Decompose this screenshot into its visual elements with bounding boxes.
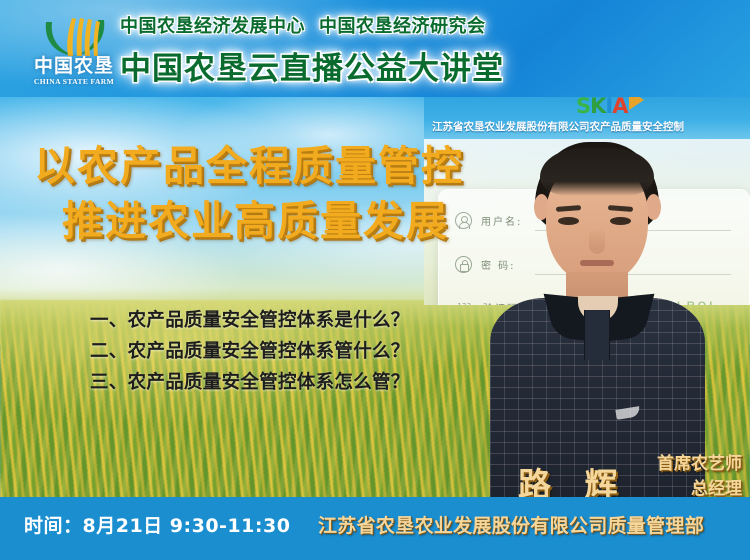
list-item: 二、农产品质量安全管控体系管什么？ <box>90 336 410 367</box>
page-title: 以农产品全程质量管控 推进农业高质量发展 <box>34 139 464 249</box>
header-text-block: 中国农垦经济发展中心中国农垦经济研究会 中国农垦云直播公益大讲堂 <box>120 12 504 88</box>
top-header-band: 中国农垦 CHINA STATE FARM 中国农垦经济发展中心中国农垦经济研究… <box>0 0 750 97</box>
logo-chinese-text: 中国农垦 <box>26 56 122 76</box>
header-org-2: 中国农垦经济研究会 <box>319 16 486 37</box>
footer-bar: 时间：8月21日 9:30-11:30 江苏省农垦农业发展股份有限公司质量管理部 <box>0 497 750 560</box>
speaker-roles: 首席农艺师 总经理 <box>620 452 742 502</box>
portrait-ear-right <box>646 194 661 220</box>
digits-123-icon: 123 <box>455 301 474 305</box>
portrait-placket <box>584 310 610 360</box>
poster-canvas: 用户名: 密 码: 123 验证码: LRQI SKIA <box>0 0 750 560</box>
logo-english-text: CHINA STATE FARM <box>26 77 122 86</box>
portrait-fringe <box>540 148 654 196</box>
header-subtitle-row: 中国农垦经济发展中心中国农垦经济研究会 <box>120 12 504 38</box>
organizer-name: 江苏省农垦农业发展股份有限公司质量管理部 <box>318 511 704 538</box>
title-line-1: 以农产品全程质量管控 <box>34 139 464 194</box>
question-list: 一、农产品质量安全管控体系是什么？ 二、农产品质量安全管控体系管什么？ 三、农产… <box>90 305 410 398</box>
portrait-mouth <box>580 260 614 266</box>
speaker-role-1: 首席农艺师 <box>620 452 742 477</box>
title-line-2: 推进农业高质量发展 <box>62 194 464 249</box>
lock-circle-icon <box>455 256 472 273</box>
skiad-letter-k: K <box>590 97 605 118</box>
wheat-swoosh-icon <box>42 16 108 58</box>
event-time: 时间：8月21日 9:30-11:30 <box>24 511 290 538</box>
header-org-1: 中国农垦经济发展中心 <box>120 16 305 37</box>
header-main-title: 中国农垦云直播公益大讲堂 <box>120 43 504 88</box>
list-item: 三、农产品质量安全管控体系怎么管？ <box>90 367 410 398</box>
skiad-letter-s: S <box>576 97 590 118</box>
play-triangle-icon <box>629 97 644 110</box>
time-label: 时间： <box>24 515 83 537</box>
portrait-eye-right <box>610 217 631 225</box>
portrait-nose <box>589 228 605 254</box>
skiad-letter-a: A <box>612 97 627 118</box>
skiad-logo: SKIA <box>576 97 643 118</box>
speaker-portrait <box>490 120 705 500</box>
time-value: 8月21日 9:30-11:30 <box>83 515 291 537</box>
list-item: 一、农产品质量安全管控体系是什么？ <box>90 305 410 336</box>
portrait-eye-left <box>558 217 579 225</box>
china-state-farm-logo: 中国农垦 CHINA STATE FARM <box>26 16 122 90</box>
